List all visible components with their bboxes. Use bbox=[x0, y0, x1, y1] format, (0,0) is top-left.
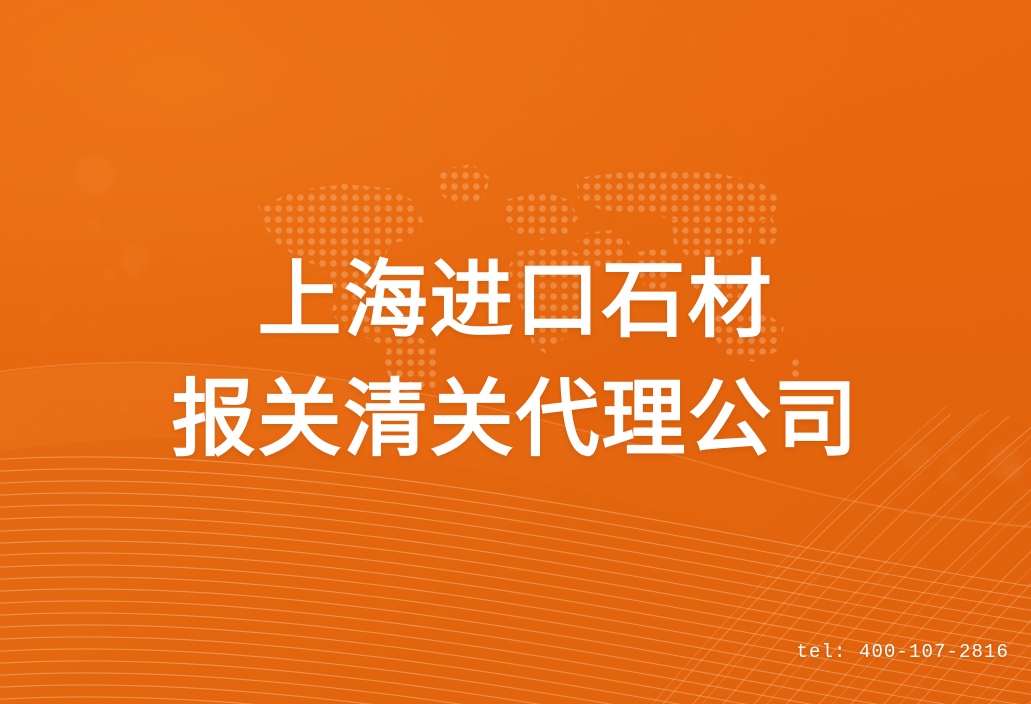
headline-line-1: 上海进口石材 bbox=[0, 246, 1031, 355]
contact-phone[interactable]: tel: 400-107-2816 bbox=[796, 641, 1009, 663]
promo-banner: 上海进口石材 报关清关代理公司 tel: 400-107-2816 bbox=[0, 0, 1031, 704]
headline-line-2: 报关清关代理公司 bbox=[0, 365, 1031, 474]
page-title: 上海进口石材 报关清关代理公司 bbox=[0, 246, 1031, 474]
